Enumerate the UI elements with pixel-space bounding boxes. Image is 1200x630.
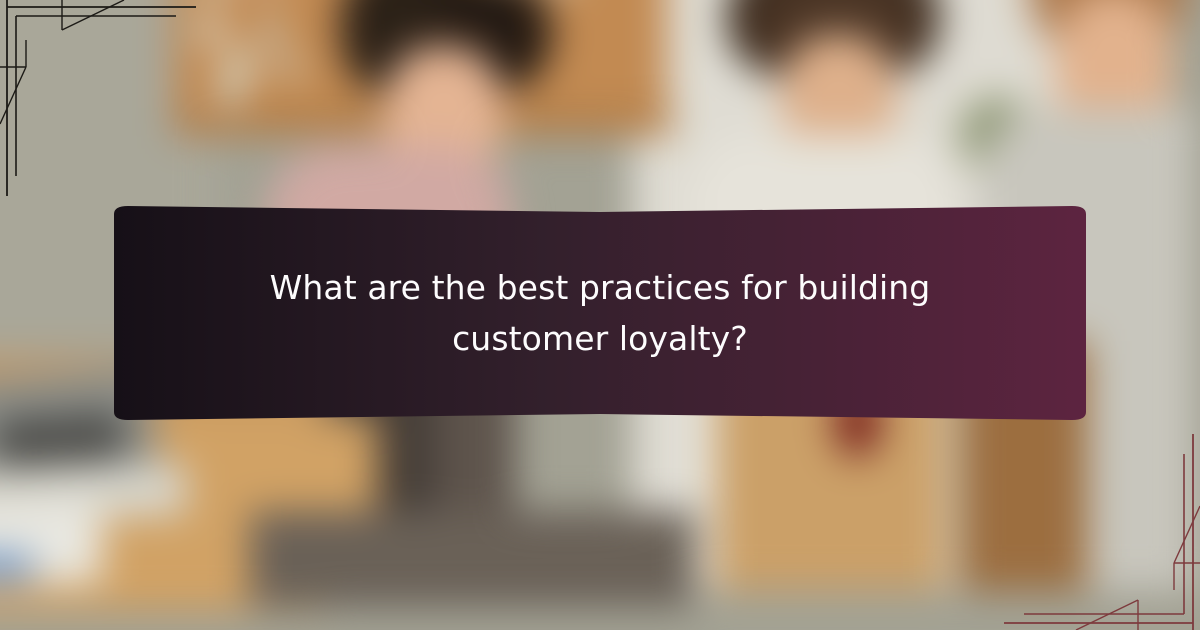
question-text-container: What are the best practices for building… <box>100 204 1100 422</box>
sticky-note <box>199 15 222 45</box>
sticky-note <box>227 51 252 79</box>
slide-canvas: What are the best practices for building… <box>0 0 1200 630</box>
question-card: What are the best practices for building… <box>100 204 1100 422</box>
sticky-note <box>246 0 265 2</box>
sticky-note <box>280 57 299 78</box>
sticky-note <box>218 79 241 107</box>
sticky-note <box>261 21 282 44</box>
floor <box>250 511 695 606</box>
paper-accent <box>0 554 33 582</box>
question-text: What are the best practices for building… <box>250 262 950 364</box>
